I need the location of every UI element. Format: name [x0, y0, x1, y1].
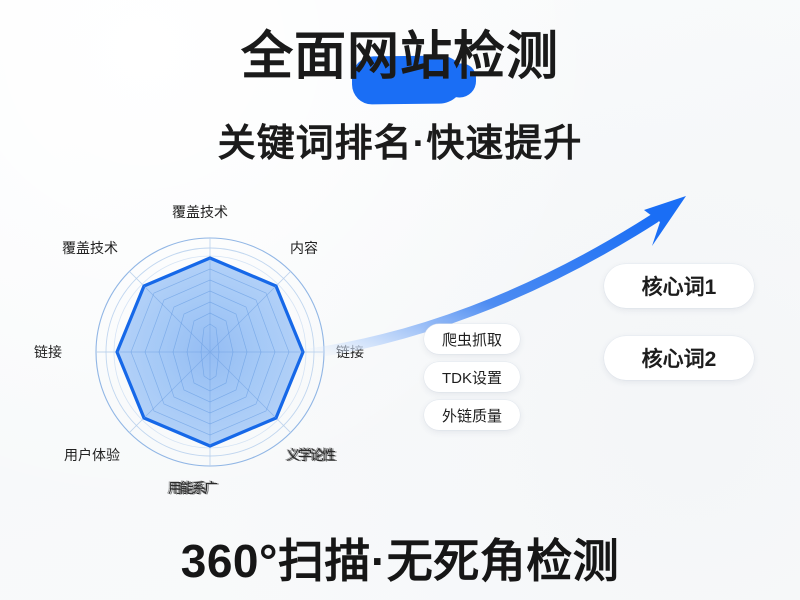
footer-tagline: 360°扫描·无死角检测 — [0, 525, 800, 591]
radar-axis-label-left: 链接 — [34, 342, 62, 362]
check-pill-label: 外链质量 — [442, 405, 502, 426]
check-pill-backlink[interactable]: 外链质量 — [424, 400, 520, 430]
title-segment-before: 全面 — [241, 28, 347, 86]
keyword-pill-2[interactable]: 核心词2 — [604, 336, 754, 380]
radar-axis-label-lower-left: 用户体验 — [64, 445, 120, 465]
radar-axis-label-top: 覆盖技术 — [172, 202, 228, 222]
title-block: 全面网站检测 — [0, 30, 800, 85]
page-title: 全面网站检测 — [241, 30, 559, 85]
keyword-pill-label: 核心词1 — [642, 271, 717, 301]
poster-canvas: 全面网站检测 关键词排名·快速提升 — [0, 0, 800, 600]
check-pill-label: 爬虫抓取 — [442, 329, 502, 350]
check-pill-crawl[interactable]: 爬虫抓取 — [424, 324, 520, 354]
keyword-pill-label: 核心词2 — [642, 343, 717, 373]
check-pill-label: TDK设置 — [442, 367, 502, 388]
radar-axis-label-upper-left: 覆盖技术 — [62, 238, 118, 258]
radar-axis-label-bottom: 用能系广 — [168, 478, 216, 498]
radar-axis-label-lower-right: 义学论性 — [286, 445, 334, 465]
title-segment-highlight: 网站 — [347, 28, 453, 86]
page-subtitle: 关键词排名·快速提升 — [0, 112, 800, 167]
check-pill-tdk[interactable]: TDK设置 — [424, 362, 520, 392]
keyword-pill-1[interactable]: 核心词1 — [604, 264, 754, 308]
title-segment-after: 检测 — [453, 28, 559, 86]
